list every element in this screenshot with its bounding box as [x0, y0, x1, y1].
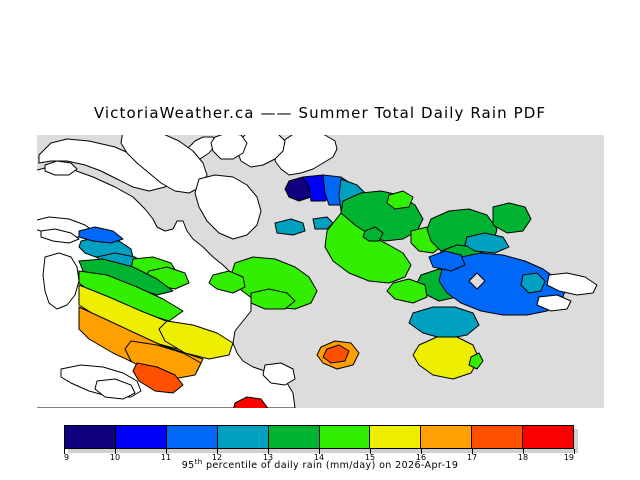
colorbar-band-13-14[interactable]: [269, 426, 320, 448]
map-panel[interactable]: [37, 135, 604, 408]
colorbar-band-16-17[interactable]: [421, 426, 472, 448]
colorbar-caption: 95th percentile of daily rain (mm/day) o…: [64, 458, 576, 471]
caption-superscript: th: [195, 458, 203, 466]
colorbar-band-10-11[interactable]: [116, 426, 167, 448]
colorbar-band-15-16[interactable]: [370, 426, 421, 448]
colorbar-band-11-12[interactable]: [167, 426, 218, 448]
colorbar-tick-mark: [574, 449, 575, 454]
weather-map-page: VictoriaWeather.ca —— Summer Total Daily…: [0, 0, 640, 480]
colorbar-band-9-10[interactable]: [65, 426, 116, 448]
colorbar-band-12-13[interactable]: [218, 426, 269, 448]
rainfall-choropleth-map[interactable]: [37, 135, 604, 408]
colorbar-band-17-18[interactable]: [472, 426, 523, 448]
page-title: VictoriaWeather.ca —— Summer Total Daily…: [0, 104, 640, 122]
colorbar-band-18-19[interactable]: [523, 426, 573, 448]
colorbar-legend: 910111213141516171819 95th percentile of…: [64, 425, 584, 477]
colorbar-band-14-15[interactable]: [320, 426, 371, 448]
colorbar-bands[interactable]: [64, 425, 574, 449]
